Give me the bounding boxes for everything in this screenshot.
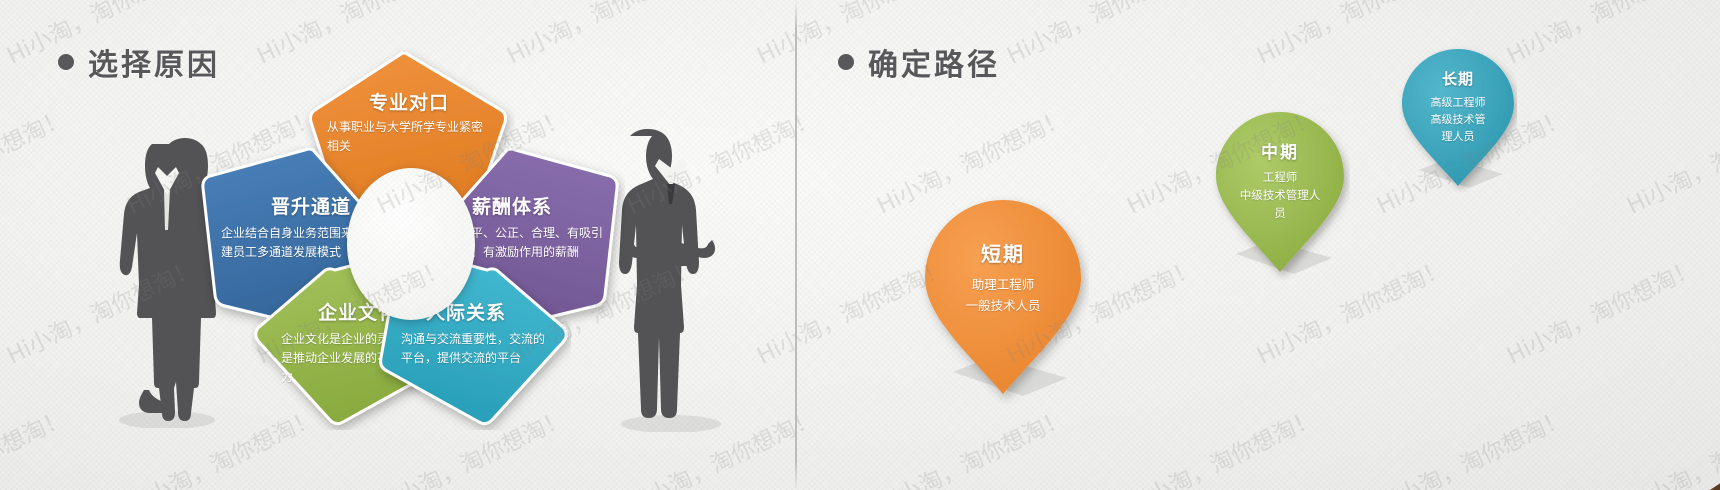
pin-line: 工程师 (1210, 168, 1350, 186)
pin-long-term[interactable]: 长期 高级工程师 高级技术管 理人员 (1399, 46, 1517, 192)
petal-title: 专业对口 (303, 88, 515, 115)
pin-title: 中期 (1210, 138, 1350, 163)
pin-mid-term[interactable]: 中期 工程师 中级技术管理人 员 (1210, 108, 1350, 280)
pin-line: 助理工程师 (917, 274, 1089, 295)
slide-root: 专业对口 从事职业与大学所学专业紧密相关 (0, 0, 1720, 490)
pentagon-flower: 专业对口 从事职业与大学所学专业紧密相关 (195, 48, 625, 430)
pin-title: 短期 (917, 238, 1089, 267)
heading-text: 确定路径 (868, 40, 1000, 84)
pin-line: 一般技术人员 (917, 295, 1089, 316)
pin-line: 员 (1210, 204, 1350, 222)
pin-line: 高级工程师 (1399, 94, 1517, 111)
center-oval (347, 168, 475, 320)
bullet-dot-icon (58, 54, 74, 70)
pin-line: 中级技术管理人 (1210, 186, 1350, 204)
pin-short-term[interactable]: 短期 助理工程师 一般技术人员 (917, 196, 1089, 404)
perspective-road (1590, 0, 1720, 490)
businessman-silhouette (612, 122, 730, 432)
heading-text: 选择原因 (88, 40, 220, 84)
panel-divider (795, 0, 797, 490)
petal-body: 沟通与交流重要性，交流的平台，提供交流的平台 (401, 330, 549, 368)
page-title-right: 确定路径 (838, 40, 1000, 84)
pin-title: 长期 (1399, 68, 1517, 89)
bullet-dot-icon (838, 54, 854, 70)
pin-line: 理人员 (1399, 128, 1517, 145)
pin-line: 高级技术管 (1399, 111, 1517, 128)
page-title-left: 选择原因 (58, 40, 220, 84)
